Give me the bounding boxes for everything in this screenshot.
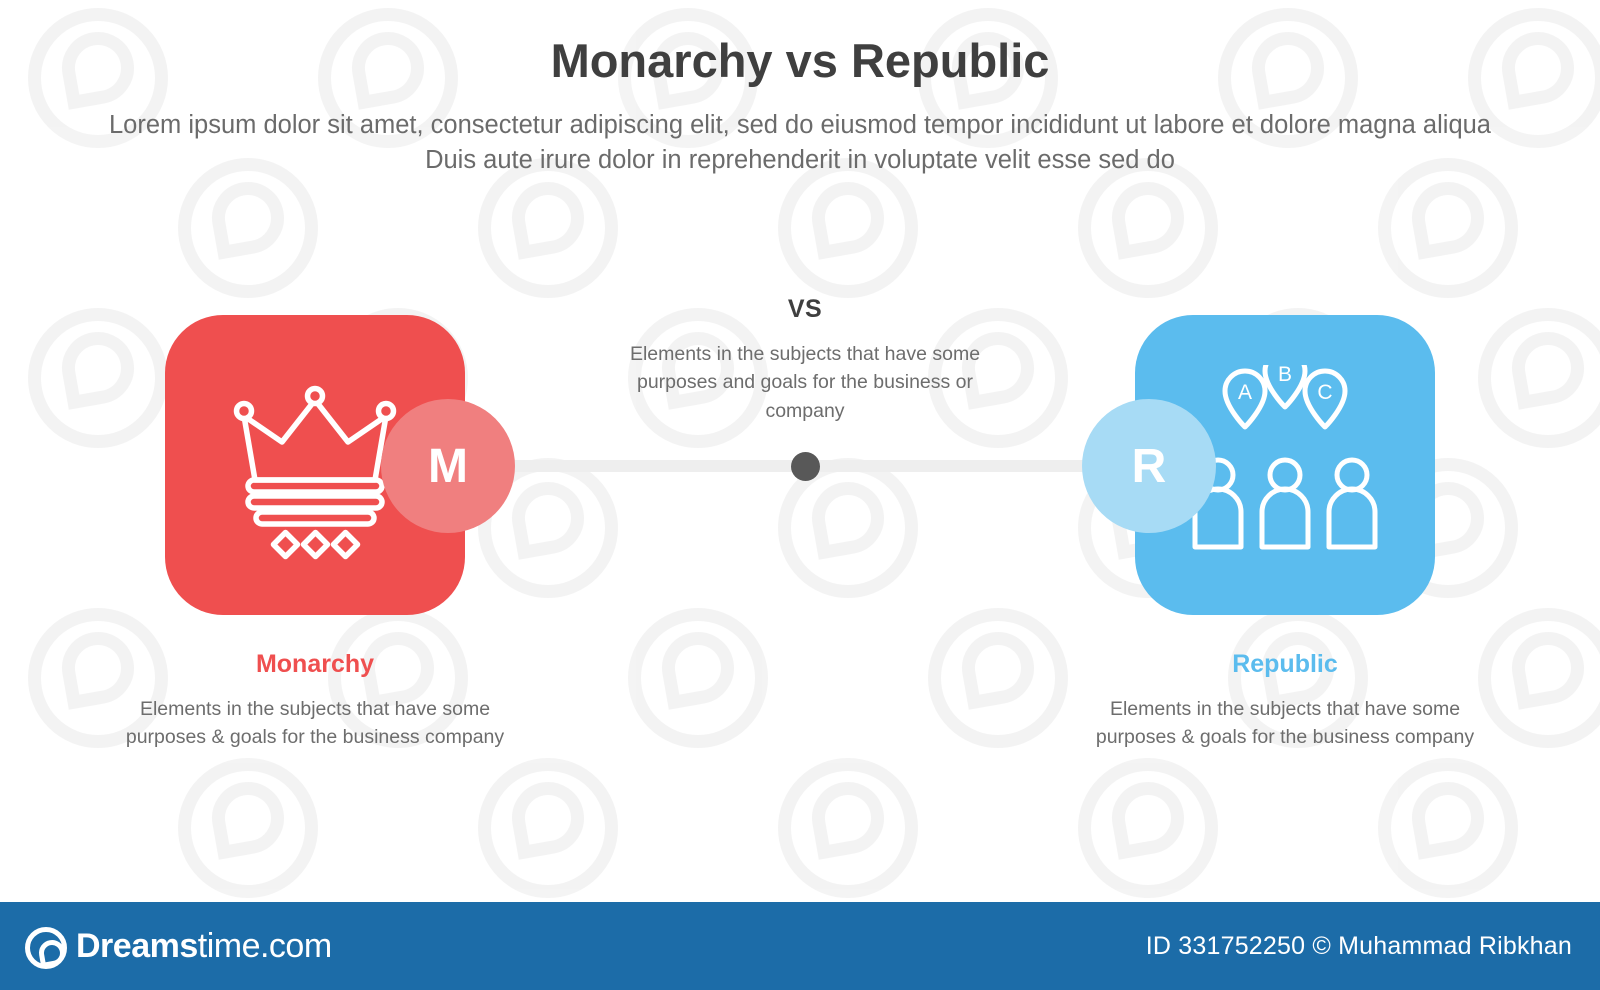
monarchy-badge-label: M (428, 439, 468, 494)
monarchy-badge: M (381, 399, 515, 533)
vs-description: Elements in the subjects that have some … (605, 340, 1005, 425)
dreamstime-logo-icon (22, 924, 66, 968)
republic-badge-label: R (1132, 439, 1167, 494)
comparison-diagram: M A B C (0, 0, 1600, 900)
republic-title: Republic (1085, 650, 1485, 679)
vs-block: VS Elements in the subjects that have so… (605, 295, 1005, 425)
republic-caption: Republic Elements in the subjects that h… (1085, 650, 1485, 752)
brand-text: Dreamstime.com (76, 927, 332, 966)
svg-text:A: A (1238, 381, 1252, 404)
dreamstime-brand[interactable]: Dreamstime.com (0, 924, 332, 968)
republic-badge: R (1082, 399, 1216, 533)
brand-light: time.com (198, 927, 332, 965)
vs-label: VS (605, 295, 1005, 324)
image-credit: ID 331752250 © Muhammad Ribkhan (1146, 932, 1600, 961)
footer-bar: Dreamstime.com ID 331752250 © Muhammad R… (0, 902, 1600, 990)
monarchy-title: Monarchy (115, 650, 515, 679)
svg-text:B: B (1278, 365, 1292, 386)
monarchy-description: Elements in the subjects that have some … (115, 695, 515, 752)
svg-text:C: C (1317, 381, 1332, 404)
brand-bold: Dreams (76, 927, 198, 965)
connector-center-dot (791, 452, 820, 481)
monarchy-caption: Monarchy Elements in the subjects that h… (115, 650, 515, 752)
republic-description: Elements in the subjects that have some … (1085, 695, 1485, 752)
